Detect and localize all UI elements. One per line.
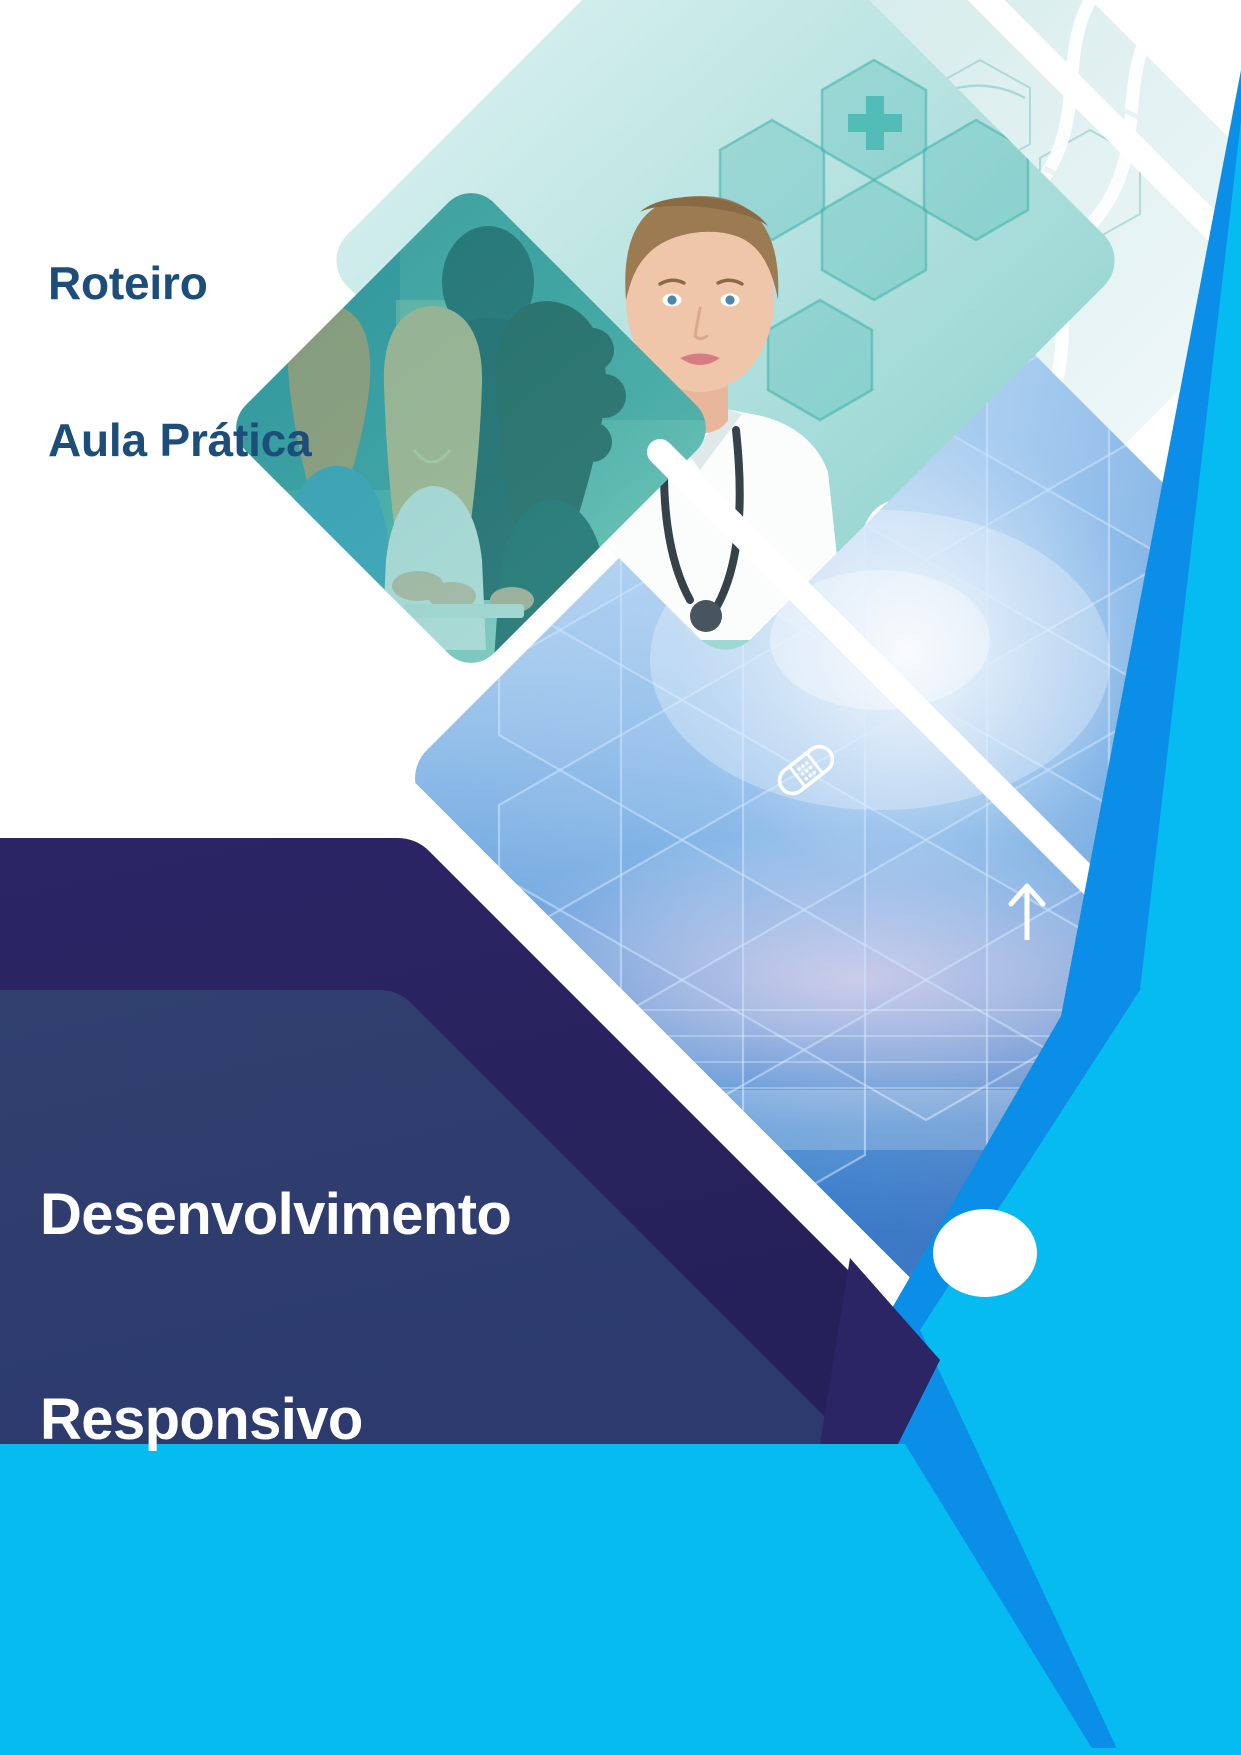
cover-title: Desenvolvimento Responsivo [40, 1044, 511, 1592]
cover-kicker: Roteiro Aula Prática [48, 152, 312, 572]
bottom-edge [0, 1748, 1241, 1755]
cover-page: Roteiro Aula Prática Desenvolvimento Res… [0, 0, 1241, 1755]
kicker-line-1: Roteiro [48, 257, 312, 309]
title-line-2: Responsivo [40, 1386, 511, 1454]
title-line-1: Desenvolvimento [40, 1181, 511, 1249]
white-notch [933, 1209, 1037, 1297]
kicker-line-2: Aula Prática [48, 414, 312, 466]
